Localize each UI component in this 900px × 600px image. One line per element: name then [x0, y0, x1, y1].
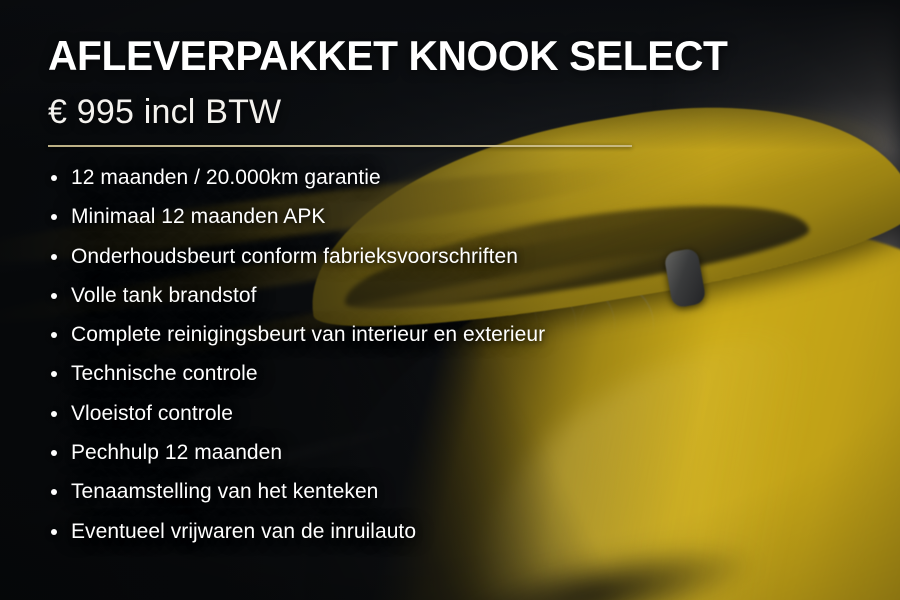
- list-item-label: Minimaal 12 maanden APK: [71, 205, 325, 228]
- bullet-dot-icon: [51, 371, 57, 377]
- list-item: Vloeistof controle: [48, 402, 545, 441]
- list-item: 12 maanden / 20.000km garantie: [48, 166, 545, 205]
- page-title: AFLEVERPAKKET KNOOK SELECT: [48, 34, 728, 79]
- list-item-label: Technische controle: [71, 362, 258, 385]
- list-item: Eventueel vrijwaren van de inruilauto: [48, 520, 545, 559]
- bullet-dot-icon: [51, 214, 57, 220]
- list-item: Complete reinigingsbeurt van interieur e…: [48, 323, 545, 362]
- list-item: Tenaamstelling van het kenteken: [48, 480, 545, 519]
- list-item: Minimaal 12 maanden APK: [48, 205, 545, 244]
- feature-list: 12 maanden / 20.000km garantieMinimaal 1…: [48, 166, 545, 559]
- list-item-label: Pechhulp 12 maanden: [71, 441, 282, 464]
- bullet-dot-icon: [51, 489, 57, 495]
- bullet-dot-icon: [51, 293, 57, 299]
- list-item-label: Complete reinigingsbeurt van interieur e…: [71, 323, 545, 346]
- list-item: Pechhulp 12 maanden: [48, 441, 545, 480]
- list-item-label: Vloeistof controle: [71, 402, 233, 425]
- price-label: € 995 incl BTW: [48, 94, 281, 131]
- list-item-label: Onderhoudsbeurt conform fabrieksvoorschr…: [71, 245, 518, 268]
- list-item-label: 12 maanden / 20.000km garantie: [71, 166, 381, 189]
- bullet-dot-icon: [51, 450, 57, 456]
- bullet-dot-icon: [51, 529, 57, 535]
- list-item-label: Eventueel vrijwaren van de inruilauto: [71, 520, 416, 543]
- title-divider: [48, 145, 632, 147]
- list-item: Onderhoudsbeurt conform fabrieksvoorschr…: [48, 245, 545, 284]
- promo-slide: AFLEVERPAKKET KNOOK SELECT € 995 incl BT…: [0, 0, 900, 600]
- slide-content: AFLEVERPAKKET KNOOK SELECT € 995 incl BT…: [0, 0, 900, 600]
- list-item-label: Tenaamstelling van het kenteken: [71, 480, 378, 503]
- list-item: Volle tank brandstof: [48, 284, 545, 323]
- bullet-dot-icon: [51, 175, 57, 181]
- bullet-dot-icon: [51, 254, 57, 260]
- bullet-dot-icon: [51, 411, 57, 417]
- list-item: Technische controle: [48, 362, 545, 401]
- list-item-label: Volle tank brandstof: [71, 284, 256, 307]
- bullet-dot-icon: [51, 332, 57, 338]
